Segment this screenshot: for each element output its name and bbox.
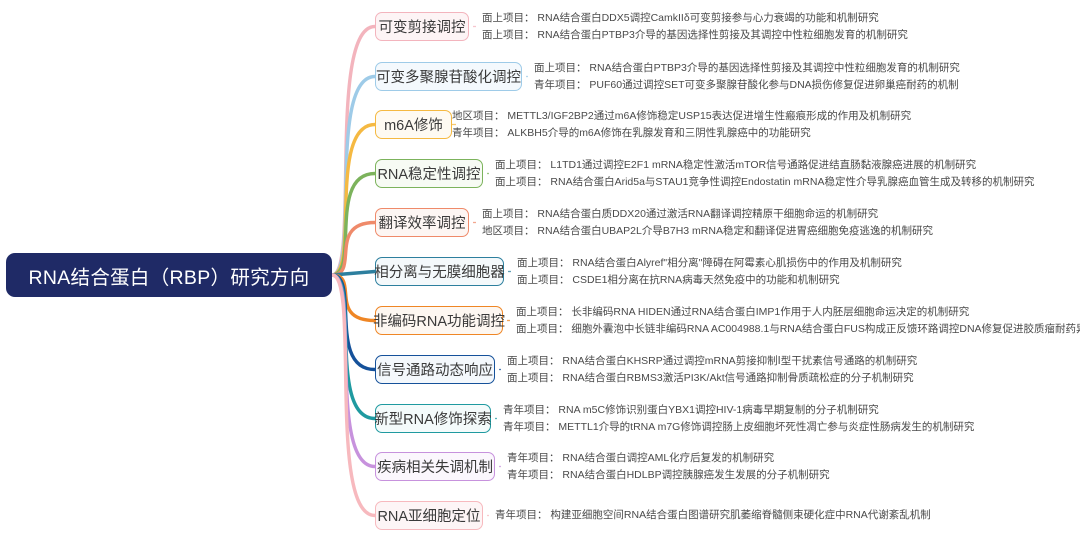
branch-curve-2 [332, 77, 375, 276]
branch-curve-6 [332, 272, 375, 276]
branch-detail-item: 青年项目： PUF60通过调控SET可变多聚腺苷酸化参与DNA损伤修复促进卵巢癌… [534, 77, 960, 94]
branch-detail-item: 青年项目： RNA结合蛋白调控AML化疗后复发的机制研究 [507, 450, 830, 467]
branch-label-text: 可变多聚腺苷酸化调控 [376, 66, 521, 87]
branch-detail-item: 面上项目： RNA结合蛋白质DDX20通过激活RNA翻译调控精原干细胞命运的机制… [482, 206, 933, 223]
branch-detail-list-7: 面上项目： 长非编码RNA HIDEN通过RNA结合蛋白IMP1作用于人内胚层细… [516, 304, 1080, 337]
branch-detail-item: 青年项目： METTL1介导的tRNA m7G修饰调控肠上皮细胞坏死性凋亡参与炎… [503, 419, 974, 436]
branch-detail-list-9: 青年项目： RNA m5C修饰识别蛋白YBX1调控HIV-1病毒早期复制的分子机… [503, 402, 974, 435]
branch-detail-list-8: 面上项目： RNA结合蛋白KHSRP通过调控mRNA剪接抑制Ⅰ型干扰素信号通路的… [507, 353, 917, 386]
branch-detail-item: 面上项目： RNA结合蛋白KHSRP通过调控mRNA剪接抑制Ⅰ型干扰素信号通路的… [507, 353, 917, 370]
branch-detail-item: 面上项目： L1TD1通过调控E2F1 mRNA稳定性激活mTOR信号通路促进结… [495, 157, 1034, 174]
root-node-label: RNA结合蛋白（RBP）研究方向 [28, 261, 309, 290]
branch-curve-7 [332, 275, 375, 321]
branch-detail-item: 面上项目： RNA结合蛋白Alyref"相分离"障碍在阿霉素心肌损伤中的作用及机… [517, 255, 902, 272]
branch-label-10[interactable]: 疾病相关失调机制 [375, 452, 495, 481]
branch-curve-5 [332, 223, 375, 276]
branch-label-2[interactable]: 可变多聚腺苷酸化调控 [375, 62, 522, 91]
branch-detail-list-2: 面上项目： RNA结合蛋白PTBP3介导的基因选择性剪接及其调控中性粒细胞发育的… [534, 60, 960, 93]
branch-label-text: RNA亚细胞定位 [377, 505, 480, 526]
branch-curve-10 [332, 275, 375, 467]
branch-detail-item: 面上项目： RNA结合蛋白PTBP3介导的基因选择性剪接及其调控中性粒细胞发育的… [482, 27, 908, 44]
branch-curve-1 [332, 27, 375, 276]
branch-detail-list-4: 面上项目： L1TD1通过调控E2F1 mRNA稳定性激活mTOR信号通路促进结… [495, 157, 1034, 190]
branch-detail-item: 青年项目： ALKBH5介导的m6A修饰在乳腺发育和三阴性乳腺癌中的功能研究 [452, 125, 911, 142]
branch-label-1[interactable]: 可变剪接调控 [375, 12, 469, 41]
branch-label-3[interactable]: m6A修饰 [375, 110, 452, 139]
branch-detail-item: 青年项目： 构建亚细胞空间RNA结合蛋白图谱研究肌萎缩脊髓侧束硬化症中RNA代谢… [495, 507, 931, 524]
branch-detail-list-5: 面上项目： RNA结合蛋白质DDX20通过激活RNA翻译调控精原干细胞命运的机制… [482, 206, 933, 239]
branch-detail-item: 面上项目： RNA结合蛋白DDX5调控CamkIIδ可变剪接参与心力衰竭的功能和… [482, 10, 908, 27]
branch-label-text: 信号通路动态响应 [377, 359, 493, 380]
branch-curve-4 [332, 174, 375, 276]
branch-label-8[interactable]: 信号通路动态响应 [375, 355, 495, 384]
branch-detail-list-11: 青年项目： 构建亚细胞空间RNA结合蛋白图谱研究肌萎缩脊髓侧束硬化症中RNA代谢… [495, 507, 931, 524]
branch-detail-item: 地区项目： METTL3/IGF2BP2通过m6A修饰稳定USP15表达促进增生… [452, 108, 911, 125]
branch-curve-9 [332, 275, 375, 419]
branch-detail-item: 面上项目： 长非编码RNA HIDEN通过RNA结合蛋白IMP1作用于人内胚层细… [516, 304, 1080, 321]
branch-label-6[interactable]: 相分离与无膜细胞器 [375, 257, 504, 286]
branch-label-7[interactable]: 非编码RNA功能调控 [375, 306, 503, 335]
branch-label-text: 翻译效率调控 [379, 212, 466, 233]
branch-label-4[interactable]: RNA稳定性调控 [375, 159, 483, 188]
branch-curve-8 [332, 275, 375, 370]
branch-label-text: 疾病相关失调机制 [377, 456, 493, 477]
branch-detail-item: 面上项目： RNA结合蛋白PTBP3介导的基因选择性剪接及其调控中性粒细胞发育的… [534, 60, 960, 77]
branch-detail-item: 面上项目： RNA结合蛋白RBMS3激活PI3K/Akt信号通路抑制骨质疏松症的… [507, 370, 917, 387]
branch-label-text: 相分离与无膜细胞器 [374, 261, 505, 282]
branch-detail-list-3: 地区项目： METTL3/IGF2BP2通过m6A修饰稳定USP15表达促进增生… [452, 108, 911, 141]
branch-detail-item: 面上项目： 细胞外囊泡中长链非编码RNA AC004988.1与RNA结合蛋白F… [516, 321, 1080, 338]
branch-detail-item: 地区项目： RNA结合蛋白UBAP2L介导B7H3 mRNA稳定和翻译促进胃癌细… [482, 223, 933, 240]
branch-detail-item: 面上项目： RNA结合蛋白Arid5a与STAU1竞争性调控Endostatin… [495, 174, 1034, 191]
branch-detail-item: 青年项目： RNA结合蛋白HDLBP调控胰腺癌发生发展的分子机制研究 [507, 467, 830, 484]
branch-label-9[interactable]: 新型RNA修饰探索 [375, 404, 491, 433]
branch-label-text: 可变剪接调控 [379, 16, 466, 37]
branch-detail-list-6: 面上项目： RNA结合蛋白Alyref"相分离"障碍在阿霉素心肌损伤中的作用及机… [517, 255, 902, 288]
branch-detail-list-10: 青年项目： RNA结合蛋白调控AML化疗后复发的机制研究青年项目： RNA结合蛋… [507, 450, 830, 483]
branch-label-text: RNA稳定性调控 [377, 163, 480, 184]
branch-detail-list-1: 面上项目： RNA结合蛋白DDX5调控CamkIIδ可变剪接参与心力衰竭的功能和… [482, 10, 908, 43]
branch-detail-item: 青年项目： RNA m5C修饰识别蛋白YBX1调控HIV-1病毒早期复制的分子机… [503, 402, 974, 419]
branch-label-5[interactable]: 翻译效率调控 [375, 208, 469, 237]
branch-label-text: 非编码RNA功能调控 [373, 310, 505, 331]
mindmap-canvas: RNA结合蛋白（RBP）研究方向 可变剪接调控面上项目： RNA结合蛋白DDX5… [0, 0, 1080, 544]
branch-label-text: 新型RNA修饰探索 [374, 408, 492, 429]
branch-detail-item: 面上项目： CSDE1相分离在抗RNA病毒天然免疫中的功能和机制研究 [517, 272, 902, 289]
branch-label-text: m6A修饰 [384, 114, 443, 135]
root-node[interactable]: RNA结合蛋白（RBP）研究方向 [6, 253, 332, 297]
branch-curve-3 [332, 125, 375, 276]
branch-curve-11 [332, 275, 375, 516]
branch-label-11[interactable]: RNA亚细胞定位 [375, 501, 483, 530]
